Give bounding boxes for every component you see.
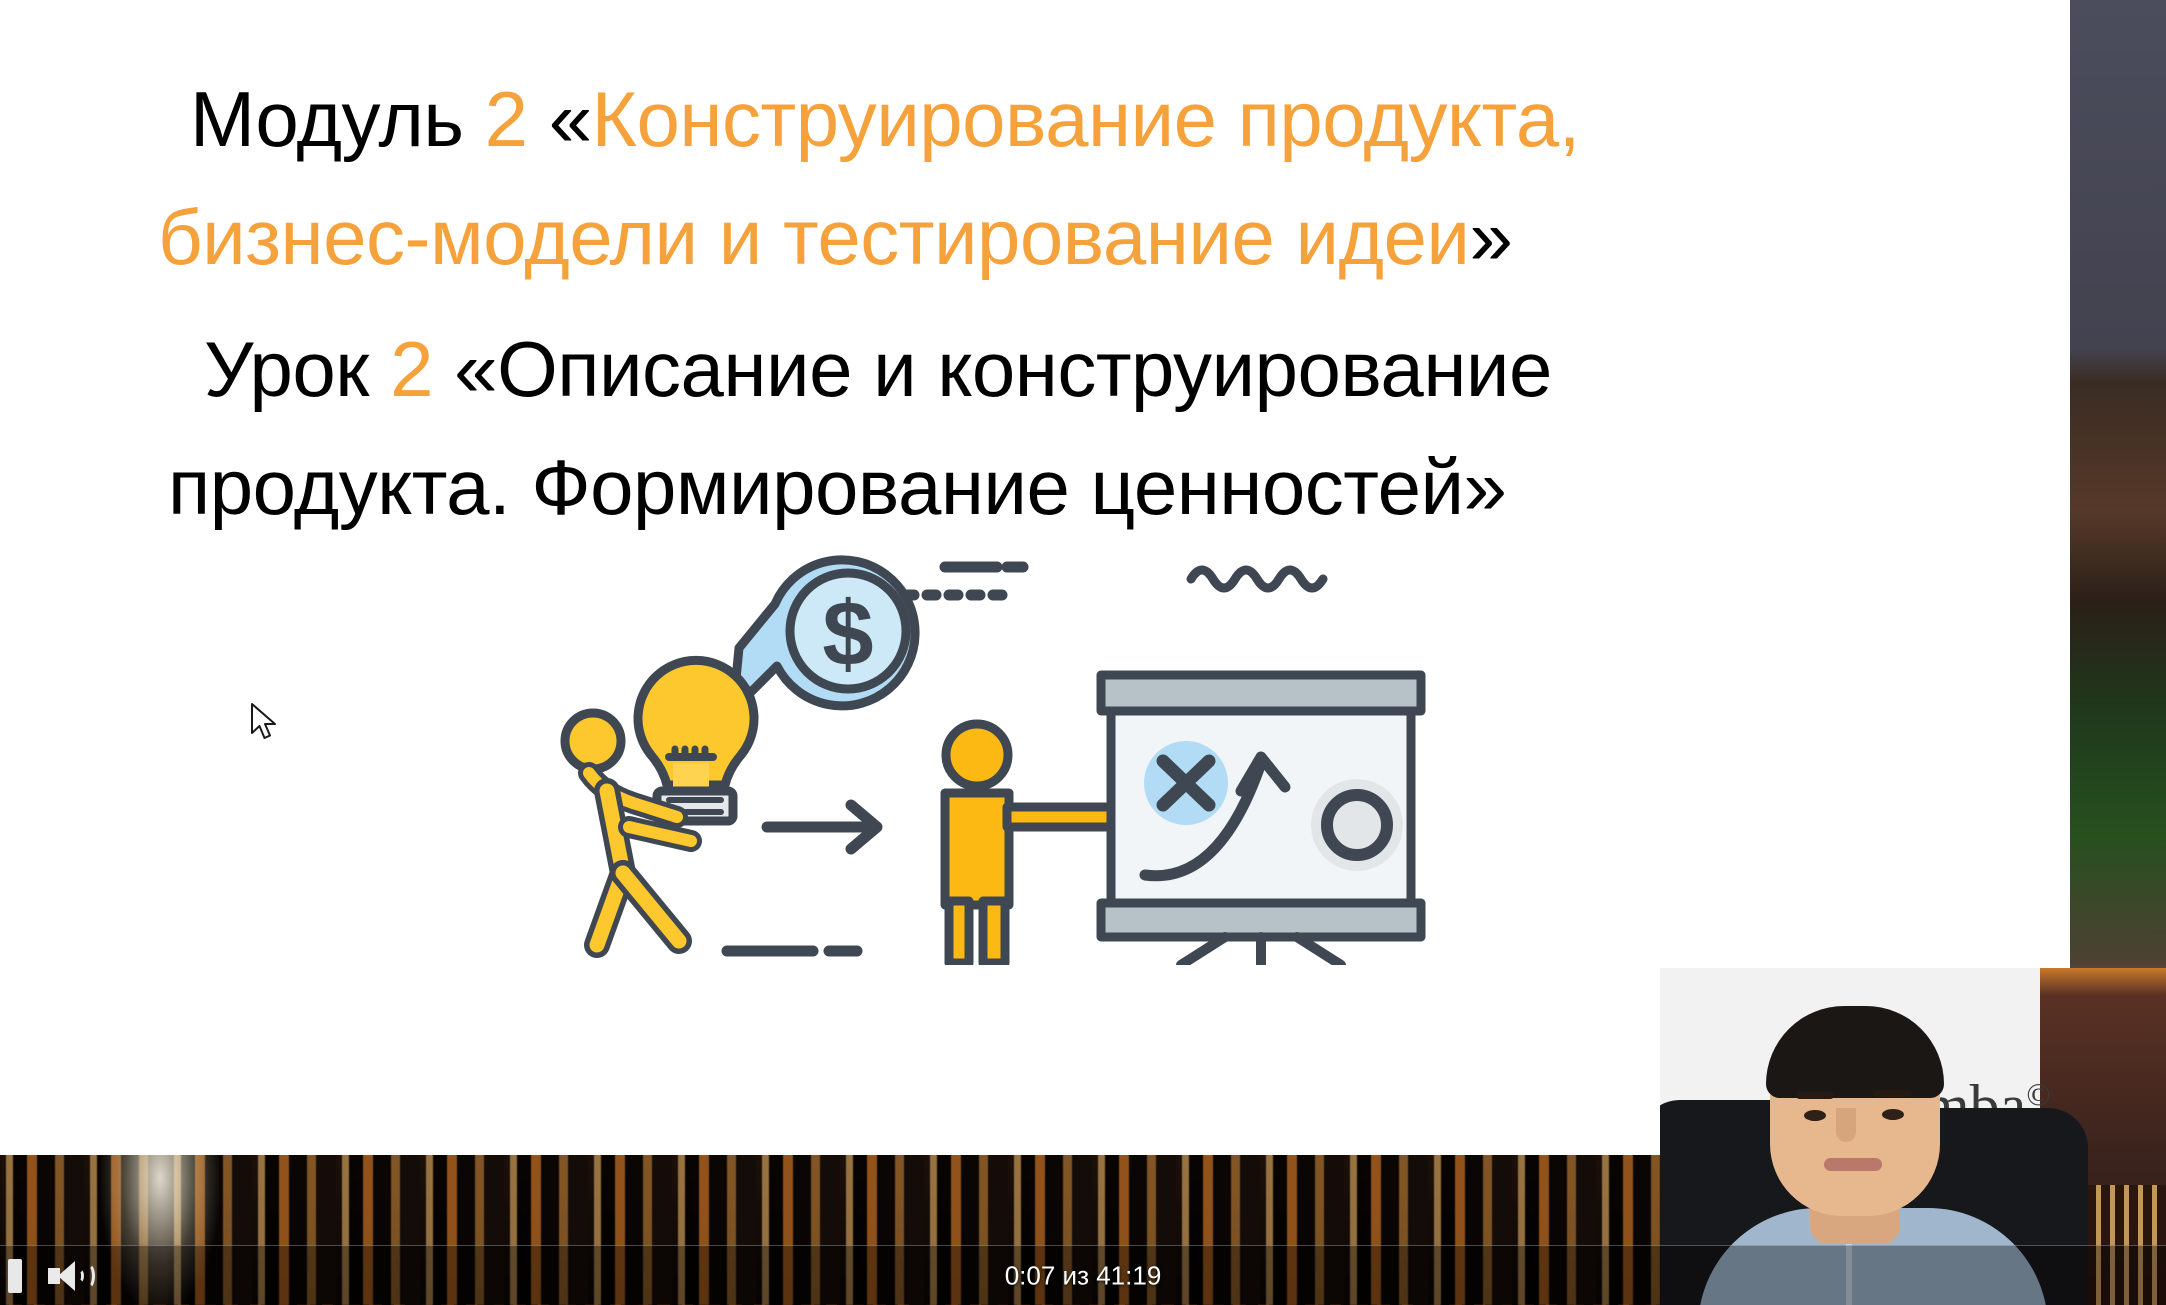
module-title-part-2: бизнес-модели и тестирование идеи xyxy=(158,193,1469,281)
module-quote-close: » xyxy=(1469,193,1512,281)
module-title-part-1: Конструирование продукта, xyxy=(592,75,1580,163)
module-prefix: Модуль xyxy=(190,75,485,163)
speaker-cone xyxy=(58,1261,75,1291)
presenter-person-icon xyxy=(945,724,1117,963)
whiteboard-icon xyxy=(1101,675,1421,965)
mouse-cursor xyxy=(250,702,284,744)
presenter-nose xyxy=(1836,1108,1856,1142)
presenter-eye-left xyxy=(1804,1110,1826,1121)
lightbulb-icon xyxy=(638,660,754,821)
volume-speaker-icon[interactable] xyxy=(48,1259,94,1293)
speaker-wave-outer xyxy=(81,1263,95,1289)
module-title-line-1: Модуль 2 «Конструирование продукта, xyxy=(190,60,1870,178)
lesson-quote-close: » xyxy=(1464,443,1507,531)
lesson-number: 2 xyxy=(390,325,433,413)
pause-icon[interactable] xyxy=(8,1259,22,1293)
arrow-right-icon xyxy=(767,805,877,849)
lesson-title-part-1: Описание и конструирование xyxy=(497,325,1552,413)
playback-time-display: 0:07 из 41:19 xyxy=(1005,1260,1162,1291)
svg-text:$: $ xyxy=(822,583,873,685)
presenter-brow-left xyxy=(1796,1092,1834,1099)
module-number: 2 xyxy=(485,75,528,163)
lesson-title-line-2: продукта. Формирование ценностей» xyxy=(168,428,1870,546)
player-left-controls xyxy=(0,1246,94,1305)
dollar-speech-bubble-icon: $ xyxy=(733,560,915,710)
lesson-quote-open: « xyxy=(433,325,497,413)
player-control-bar[interactable]: 0:07 из 41:19 xyxy=(0,1245,2166,1305)
lesson-prefix: Урок xyxy=(204,325,390,413)
business-strategy-illustration: $ xyxy=(545,545,1445,965)
module-quote-open: « xyxy=(528,75,592,163)
lesson-title-part-2: продукта. Формирование ценностей xyxy=(168,443,1464,531)
module-title-line-2: бизнес-модели и тестирование идеи» xyxy=(158,178,1870,296)
slide-title-block: Модуль 2 «Конструирование продукта, бизн… xyxy=(190,60,1870,546)
presenter-eye-right xyxy=(1882,1109,1904,1120)
presenter-brow-right xyxy=(1874,1090,1912,1097)
lesson-title-line-1: Урок 2 «Описание и конструирование xyxy=(204,310,1870,428)
presenter-mouth xyxy=(1824,1158,1882,1171)
webcam-copyright-symbol: © xyxy=(2026,1076,2050,1112)
squiggle-icon xyxy=(1191,570,1323,588)
video-player[interactable]: Модуль 2 «Конструирование продукта, бизн… xyxy=(0,0,2166,1305)
